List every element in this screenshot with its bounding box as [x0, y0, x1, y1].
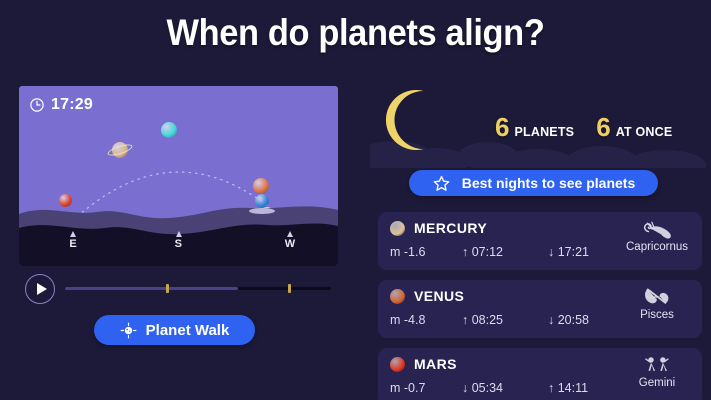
play-button[interactable]	[25, 274, 55, 304]
timeline-marker-2[interactable]	[288, 284, 291, 293]
best-nights-label: Best nights to see planets	[462, 175, 635, 191]
compass-tick-icon	[287, 231, 293, 237]
sky-view[interactable]: 17:29 ESW	[19, 86, 338, 266]
planet-zodiac-name: Capricornus	[622, 241, 692, 253]
planet-magnitude: m -1.6	[390, 245, 462, 259]
capricornus-icon	[640, 218, 674, 240]
star-icon	[432, 174, 451, 193]
app-root: When do planets align? 17:29 ESW	[0, 0, 711, 400]
planet-walk-button[interactable]: Planet Walk	[94, 315, 255, 345]
planet-zodiac: Capricornus	[622, 218, 692, 253]
planet-zodiac: Gemini	[622, 354, 692, 389]
crescent-moon-icon	[378, 85, 440, 155]
compass-point-s: S	[167, 231, 191, 250]
compass-bar: ESW	[19, 231, 338, 261]
moon-stats-zone: 6 PLANETS 6 AT ONCE	[370, 86, 711, 168]
planet-zodiac-name: Pisces	[622, 309, 692, 321]
planet-zodiac: Pisces	[622, 286, 692, 321]
stat-at-once-number: 6	[596, 112, 610, 143]
stat-planets-label: PLANETS	[514, 125, 574, 139]
planet-card-stats: m -0.7↓ 05:34↑ 14:11	[390, 381, 634, 395]
pisces-icon	[640, 286, 674, 308]
planet-card-header: MERCURY	[390, 220, 487, 236]
planet-first-time: ↑ 08:25	[462, 313, 548, 327]
planet-name: MERCURY	[414, 220, 487, 236]
planet-name: VENUS	[414, 288, 464, 304]
planet-disc	[161, 122, 177, 138]
stats-group: 6 PLANETS 6 AT ONCE	[495, 112, 672, 143]
planet-card-header: VENUS	[390, 288, 464, 304]
stat-planets: 6 PLANETS	[495, 112, 574, 143]
planet-walk-label: Planet Walk	[146, 322, 230, 339]
planet-first-time: ↑ 07:12	[462, 245, 548, 259]
planet-magnitude: m -0.7	[390, 381, 462, 395]
planet-magnitude: m -4.8	[390, 313, 462, 327]
planet-card-venus[interactable]: VENUSm -4.8↑ 08:25↓ 20:58Pisces	[378, 280, 702, 338]
stat-at-once-label: AT ONCE	[616, 125, 673, 139]
stat-planets-number: 6	[495, 112, 509, 143]
planet-card-mars[interactable]: MARSm -0.7↓ 05:34↑ 14:11Gemini	[378, 348, 702, 400]
compass-tick-icon	[176, 231, 182, 237]
planet-card-mercury[interactable]: MERCURYm -1.6↑ 07:12↓ 17:21Capricornus	[378, 212, 702, 270]
planet-color-dot	[390, 221, 405, 236]
timeline-scrubber[interactable]	[65, 287, 331, 290]
compass-label: E	[61, 238, 85, 250]
planet-zodiac-name: Gemini	[622, 377, 692, 389]
clock-icon	[29, 97, 45, 113]
best-nights-button[interactable]: Best nights to see planets	[409, 170, 658, 196]
gemini-icon	[640, 354, 674, 376]
compass-point-w: W	[278, 231, 302, 250]
planet-card-stats: m -1.6↑ 07:12↓ 17:21	[390, 245, 634, 259]
planet-card-header: MARS	[390, 356, 457, 372]
stat-at-once: 6 AT ONCE	[596, 112, 672, 143]
timeline-player[interactable]	[19, 272, 338, 306]
compass-label: W	[278, 238, 302, 250]
timeline-progress	[65, 287, 238, 290]
page-title: When do planets align?	[25, 12, 686, 54]
sky-time-display: 17:29	[29, 96, 93, 114]
compass-tick-icon	[70, 231, 76, 237]
planet-name: MARS	[414, 356, 457, 372]
planet-walk-icon	[120, 322, 137, 339]
planet-first-time: ↓ 05:34	[462, 381, 548, 395]
planet-color-dot	[390, 357, 405, 372]
compass-label: S	[167, 238, 191, 250]
play-icon	[37, 283, 47, 295]
planet-list: MERCURYm -1.6↑ 07:12↓ 17:21CapricornusVE…	[378, 212, 702, 400]
planet-disc	[253, 178, 269, 194]
compass-point-e: E	[61, 231, 85, 250]
planet-card-stats: m -4.8↑ 08:25↓ 20:58	[390, 313, 634, 327]
planet-color-dot	[390, 289, 405, 304]
timeline-marker-1[interactable]	[166, 284, 169, 293]
sky-time-label: 17:29	[51, 96, 93, 114]
